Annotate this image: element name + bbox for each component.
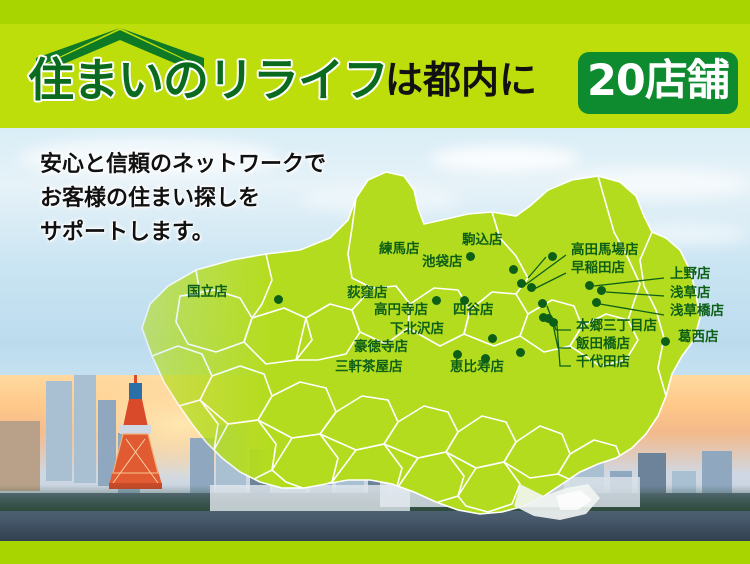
store-label: 上野店 [670,268,711,282]
store-label: 恵比寿店 [450,361,504,375]
store-label: 高田馬場店 [571,244,639,258]
store-dot [516,348,525,357]
subtitle-line-2: お客様の住まい探しを [40,182,326,216]
store-dot [549,318,558,327]
store-label: 下北沢店 [390,323,444,337]
store-label: 千代田店 [576,356,630,370]
store-label: 三軒茶屋店 [335,361,403,375]
page-title-suffix: は都内に [385,61,537,99]
store-label: 本郷三丁目店 [576,320,657,334]
store-count-badge-label: 20店舗 [587,60,729,103]
poster-canvas: 国立店練馬店池袋店駒込店高田馬場店早稲田店上野店浅草店浅草橋店葛西店荻窪店高円寺… [0,0,750,564]
page-title: 住まいのリライフ [28,57,388,103]
store-label: 浅草橋店 [670,305,724,319]
store-dot [548,252,557,261]
store-dot [585,281,594,290]
store-dot [453,350,462,359]
store-count-badge: 20店舗 [578,52,738,114]
store-dot [661,337,670,346]
header-band: 住まいのリライフ は都内に 20店舗 [0,0,750,128]
store-dot [597,286,606,295]
store-label: 練馬店 [379,243,420,257]
header-top-stripe [0,0,750,24]
store-label: 浅草店 [670,287,711,301]
store-dot [488,334,497,343]
store-dot [538,299,547,308]
store-label: 池袋店 [422,256,463,270]
bottom-green-strip [0,541,750,564]
store-dot [517,279,526,288]
subtitle-block: 安心と信頼のネットワークで お客様の住まい探しを サポートします。 [40,148,326,250]
store-label: 豪徳寺店 [354,341,408,355]
store-dot [274,295,283,304]
store-label: 飯田橋店 [576,338,630,352]
store-label: 四谷店 [453,304,494,318]
store-label: 葛西店 [678,331,719,345]
subtitle-line-1: 安心と信頼のネットワークで [40,148,326,182]
subtitle-line-3: サポートします。 [40,216,326,250]
store-dot [432,296,441,305]
store-dot [527,283,536,292]
store-label: 駒込店 [462,234,503,248]
store-label: 早稲田店 [571,262,625,276]
store-label: 高円寺店 [374,304,428,318]
store-label: 国立店 [187,286,228,300]
store-dot [592,298,601,307]
store-dot [466,252,475,261]
store-label: 荻窪店 [347,287,388,301]
store-dot [509,265,518,274]
